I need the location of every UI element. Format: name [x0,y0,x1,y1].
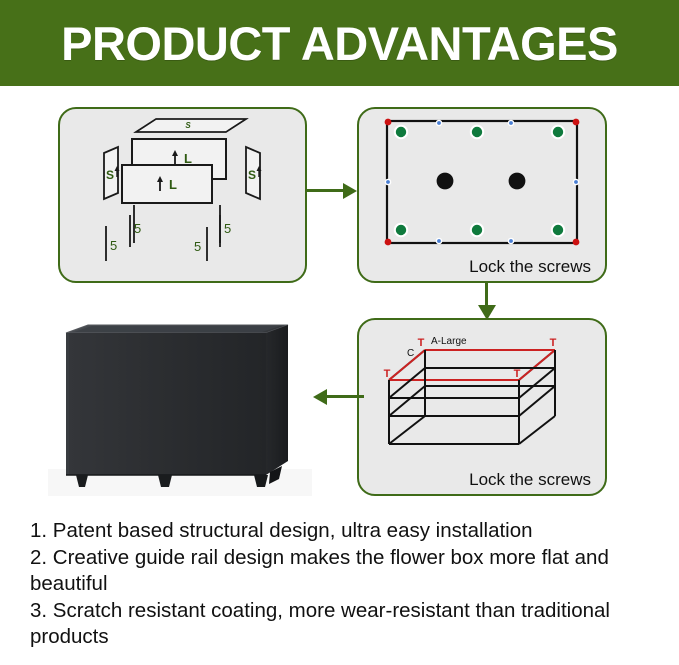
label-right-panel-S: S [248,168,256,182]
label-rail-5-b: 5 [134,221,141,236]
label-top-panel-S: S [185,121,191,130]
label-left-panel-S: S [106,168,114,182]
page-title: PRODUCT ADVANTAGES [61,20,618,67]
label-rail-5-d: 5 [224,221,231,236]
arrow-right-icon [307,183,359,199]
feature-list: 1. Patent based structural design, ultra… [30,518,660,651]
feature-item-1: 1. Patent based structural design, ultra… [30,518,660,544]
feature-item-2: 2. Creative guide rail design makes the … [30,545,660,597]
panel-caption-frame: Lock the screws [469,470,591,490]
rail-group: 5 5 5 5 [106,215,231,261]
product-image-black-flower-box [48,311,312,496]
arrow-down-icon [478,283,496,321]
label-back-panel-L: L [184,151,192,166]
panel-caption-screws: Lock the screws [469,257,591,277]
svg-text:T: T [550,337,557,349]
panel-lock-the-screws-plate: Lock the screws [357,107,607,283]
panel-assembled-frame: T T T T C A-Large Lock the screws [357,318,607,496]
svg-text:T: T [418,337,425,349]
label-rail-5-a: 5 [110,238,117,253]
label-corner-C: C [407,348,414,359]
feature-item-3: 3. Scratch resistant coating, more wear-… [30,598,660,650]
label-front-panel-L: L [169,177,177,192]
svg-text:T: T [514,368,521,380]
svg-text:T: T [384,368,391,380]
label-rail-5-c: 5 [194,239,201,254]
header-banner: PRODUCT ADVANTAGES [0,0,679,86]
base-plate-illustration [359,109,604,259]
arrow-left-icon [313,389,363,405]
label-part-a-large: A-Large [431,336,467,347]
panel-exploded-assembly: S L S S L 5 5 5 5 [58,107,307,283]
exploded-assembly-illustration: S L S S L 5 5 5 5 [60,109,304,280]
wireframe-box-illustration: T T T T C A-Large [359,320,604,472]
black-flower-box-render [48,311,312,496]
